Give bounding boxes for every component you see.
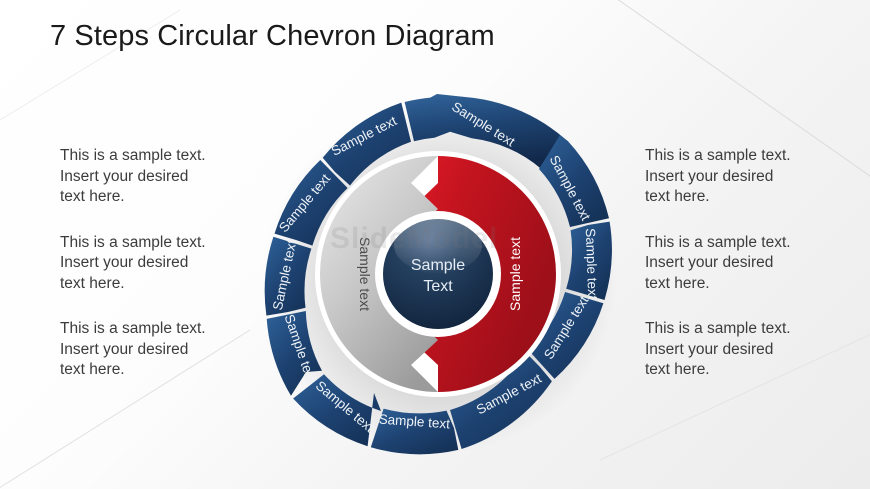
outer-segment-6[interactable]: Sample text xyxy=(371,409,459,455)
right-paragraph-2: This is a sample text. Insert your desir… xyxy=(645,233,845,295)
left-text-column: This is a sample text. Insert your desir… xyxy=(60,146,260,381)
left-paragraph-1: This is a sample text. Insert your desir… xyxy=(60,146,260,208)
page-title: 7 Steps Circular Chevron Diagram xyxy=(50,20,495,53)
left-paragraph-2: This is a sample text. Insert your desir… xyxy=(60,233,260,295)
center-label-line1: Sample xyxy=(411,257,465,274)
diagram-svg: Sample text Sample text Sample text Samp… xyxy=(248,78,628,468)
right-paragraph-3: This is a sample text. Insert your desir… xyxy=(645,319,845,381)
right-text-column: This is a sample text. Insert your desir… xyxy=(645,146,845,381)
slide-canvas: 7 Steps Circular Chevron Diagram This is… xyxy=(0,0,870,489)
inner-segment-red-label: Sample text xyxy=(507,237,523,311)
center-circle[interactable]: Sample Text xyxy=(383,217,493,329)
outer-segment-3[interactable]: Sample text xyxy=(566,222,612,300)
outer-segment-9[interactable]: Sample text xyxy=(265,237,312,316)
left-paragraph-3: This is a sample text. Insert your desir… xyxy=(60,319,260,381)
outer-segment-3-label: Sample text xyxy=(583,228,600,300)
circular-chevron-diagram: Sample text Sample text Sample text Samp… xyxy=(248,78,628,468)
center-label-line2: Text xyxy=(423,278,453,295)
inner-segment-gray-label: Sample text xyxy=(357,237,373,311)
right-paragraph-1: This is a sample text. Insert your desir… xyxy=(645,146,845,208)
